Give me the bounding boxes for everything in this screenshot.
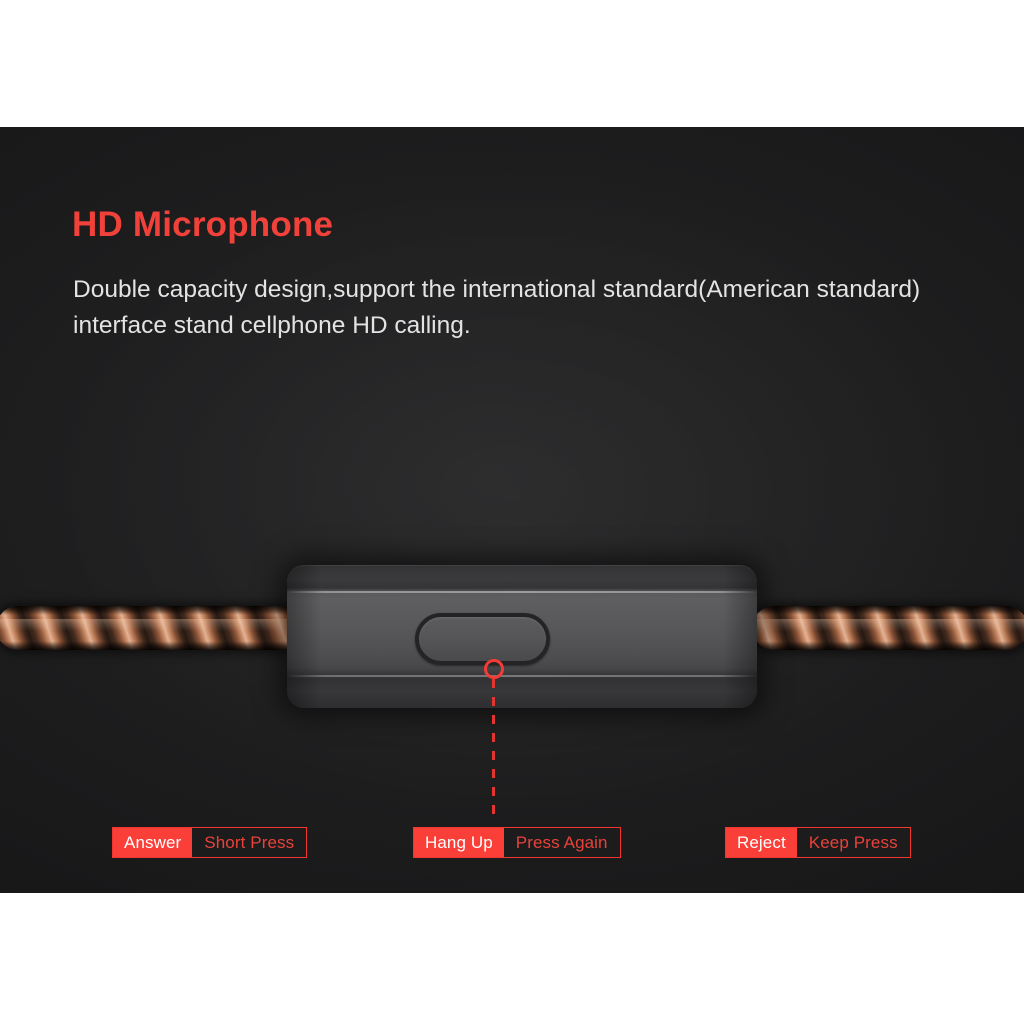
module-bottom-edge-highlight [287,675,757,677]
module-top-edge-highlight [287,591,757,593]
callout-marker-icon [484,659,504,679]
page-title: HD Microphone [72,205,333,245]
control-gesture-label: Short Press [192,828,306,857]
control-gesture-label: Press Again [504,828,620,857]
description-line-2: interface stand cellphone HD calling. [73,308,973,344]
control-badge-reject[interactable]: Reject Keep Press [725,827,911,858]
control-action-label: Reject [726,828,797,857]
product-infographic: HD Microphone Double capacity design,sup… [0,0,1024,1024]
control-badge-hang-up[interactable]: Hang Up Press Again [413,827,621,858]
multifunction-button[interactable] [415,613,550,665]
callout-dashed-leader-line [492,679,495,817]
dark-content-panel: HD Microphone Double capacity design,sup… [0,127,1024,893]
module-right-bevel [723,565,757,708]
control-action-label: Answer [113,828,192,857]
inline-remote-module [287,565,757,708]
control-gesture-label: Keep Press [797,828,910,857]
cable-left-segment [0,606,302,650]
module-left-bevel [287,565,321,708]
control-action-label: Hang Up [414,828,504,857]
description-text: Double capacity design,support the inter… [73,272,973,344]
description-line-1: Double capacity design,support the inter… [73,272,973,308]
cable-right-segment [752,606,1024,650]
control-badge-answer[interactable]: Answer Short Press [112,827,307,858]
